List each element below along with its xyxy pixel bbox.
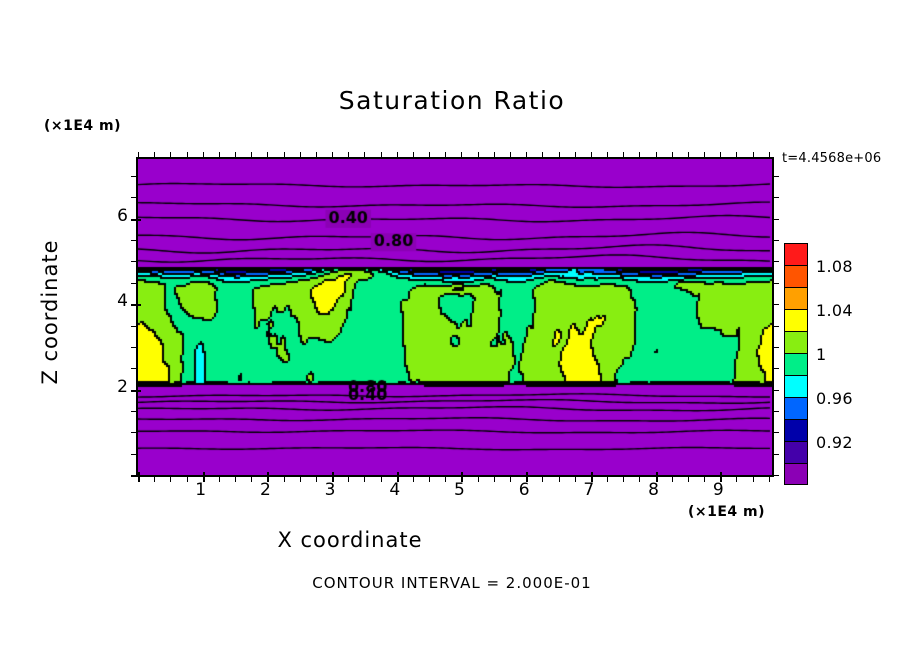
colorbar-tick-label: 1.04 [816, 301, 853, 320]
page-title: Saturation Ratio [0, 86, 904, 115]
y-axis-tick-right [772, 432, 779, 433]
x-axis-tick-top [235, 152, 236, 159]
x-axis-tick-top [413, 152, 414, 159]
y-axis-tick [131, 368, 138, 369]
x-axis-tick-top [461, 152, 462, 159]
x-axis-tick-top [720, 152, 721, 159]
x-axis-title: X coordinate [0, 528, 700, 552]
x-axis-tick-top [688, 152, 689, 159]
y-axis-tick-right [772, 454, 779, 455]
x-axis-tick [559, 475, 560, 482]
colorbar-tick-label: 0.96 [816, 389, 853, 408]
y-axis-tick [131, 347, 138, 348]
y-axis-tick [131, 304, 141, 306]
x-axis-tick-top [769, 152, 770, 159]
x-axis-tick-top [510, 152, 511, 159]
x-axis-tick-top [348, 152, 349, 159]
colorbar[interactable] [784, 243, 808, 485]
y-axis-tick [131, 326, 138, 327]
x-axis-tick-top [542, 152, 543, 159]
y-axis-tick [131, 240, 138, 241]
y-axis-tick-right [772, 368, 779, 369]
x-axis-tick-top [559, 152, 560, 159]
colorbar-band [784, 419, 808, 441]
y-axis-tick-right [772, 219, 779, 220]
x-axis-tick-top [300, 152, 301, 159]
x-axis-tick-top [397, 152, 398, 159]
plot-area[interactable] [136, 157, 774, 477]
x-axis-tick [494, 475, 495, 482]
y-axis-tick [131, 176, 138, 177]
x-axis-tick-top [445, 152, 446, 159]
x-axis-tick-top [381, 152, 382, 159]
x-axis-tick-top [364, 152, 365, 159]
x-axis-tick-top [639, 152, 640, 159]
y-axis-tick [131, 283, 138, 284]
colorbar-band [784, 353, 808, 375]
y-axis-tick [131, 475, 141, 477]
x-axis-tick-top [251, 152, 252, 159]
x-axis-tick-top [138, 152, 139, 159]
x-tick-label: 3 [310, 480, 350, 500]
colorbar-band [784, 441, 808, 463]
x-tick-label: 4 [375, 480, 415, 500]
x-axis-tick [753, 475, 754, 482]
y-axis-tick-right [772, 176, 779, 177]
x-axis-tick [300, 475, 301, 482]
y-axis-tick [131, 261, 138, 262]
x-axis-tick-top [753, 152, 754, 159]
x-axis-tick-top [575, 152, 576, 159]
x-axis-tick-top [429, 152, 430, 159]
x-axis-tick-top [591, 152, 592, 159]
y-axis-tick-right [772, 283, 779, 284]
x-axis-tick [623, 475, 624, 482]
y-axis-tick-right [772, 261, 779, 262]
x-axis-tick-top [316, 152, 317, 159]
x-axis-tick-top [672, 152, 673, 159]
colorbar-band [784, 463, 808, 485]
x-axis-tick-top [187, 152, 188, 159]
y-axis-tick [131, 432, 138, 433]
x-axis-tick [170, 475, 171, 482]
x-axis-tick [364, 475, 365, 482]
y-axis-tick [131, 411, 138, 412]
colorbar-band [784, 309, 808, 331]
y-axis-tick [131, 454, 138, 455]
x-tick-label: 9 [698, 480, 738, 500]
y-tick-label: 6 [88, 206, 128, 226]
y-axis-unit-label: (×1E4 m) [44, 118, 121, 134]
y-tick-label: 2 [88, 377, 128, 397]
y-tick-label: 4 [88, 291, 128, 311]
colorbar-band [784, 331, 808, 353]
x-axis-tick [235, 475, 236, 482]
y-axis-tick-right [772, 475, 779, 476]
y-axis-tick-right [772, 390, 779, 391]
x-axis-tick-top [478, 152, 479, 159]
x-axis-tick-top [526, 152, 527, 159]
x-axis-tick [154, 475, 155, 482]
x-tick-label: 2 [245, 480, 285, 500]
x-axis-tick-top [284, 152, 285, 159]
x-axis-tick [688, 475, 689, 482]
x-tick-label: 8 [634, 480, 674, 500]
colorbar-tick-label: 1 [816, 345, 826, 364]
x-axis-tick-top [704, 152, 705, 159]
x-axis-tick-top [623, 152, 624, 159]
x-axis-tick-top [203, 152, 204, 159]
x-axis-tick [429, 475, 430, 482]
y-axis-tick [131, 390, 141, 392]
x-axis-tick-top [332, 152, 333, 159]
y-axis-tick-right [772, 347, 779, 348]
x-axis-tick-top [154, 152, 155, 159]
x-axis-unit-label: (×1E4 m) [688, 504, 765, 520]
contour-field-canvas [138, 159, 772, 475]
y-axis-title: Z coordinate [38, 202, 62, 422]
y-axis-tick-right [772, 197, 779, 198]
x-axis-tick-top [494, 152, 495, 159]
y-axis-tick-right [772, 411, 779, 412]
x-tick-label: 5 [439, 480, 479, 500]
x-axis-tick [138, 472, 140, 482]
y-axis-tick [131, 197, 138, 198]
colorbar-band [784, 243, 808, 265]
y-axis-tick-right [772, 326, 779, 327]
time-stamp-label: t=4.4568e+06 [782, 151, 881, 166]
colorbar-tick-label: 1.08 [816, 257, 853, 276]
x-tick-label: 7 [569, 480, 609, 500]
y-axis-tick-right [772, 304, 779, 305]
x-axis-tick-top [607, 152, 608, 159]
x-axis-tick-top [170, 152, 171, 159]
contour-interval-caption: CONTOUR INTERVAL = 2.000E-01 [0, 574, 904, 592]
y-axis-tick [131, 219, 141, 221]
y-axis-tick-right [772, 240, 779, 241]
colorbar-band [784, 265, 808, 287]
x-axis-tick-top [219, 152, 220, 159]
colorbar-band [784, 397, 808, 419]
x-axis-tick-top [267, 152, 268, 159]
x-axis-tick-top [656, 152, 657, 159]
colorbar-tick-label: 0.92 [816, 433, 853, 452]
x-axis-tick [769, 475, 770, 482]
x-axis-tick-top [736, 152, 737, 159]
colorbar-band [784, 287, 808, 309]
x-tick-label: 1 [181, 480, 221, 500]
x-tick-label: 6 [504, 480, 544, 500]
colorbar-band [784, 375, 808, 397]
